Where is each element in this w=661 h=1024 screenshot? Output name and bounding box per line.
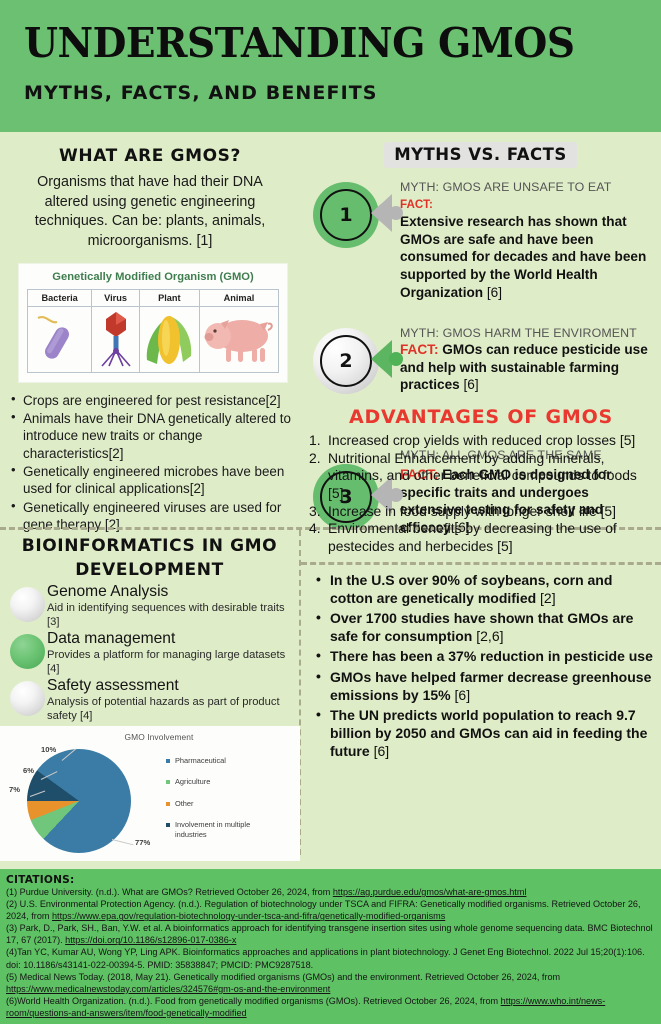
myth-number-badge-2: 2 <box>313 326 391 400</box>
list-item: Crops are engineered for pest resistance… <box>10 392 300 409</box>
section-heading-advantages: ADVANTAGES OF GMOS <box>301 406 661 428</box>
myth-statement-2: MYTH: GMOS HARM THE ENVIROMENT <box>400 326 651 340</box>
left-column: WHAT ARE GMOS? Organisms that have had t… <box>0 132 300 534</box>
bacteriophage-icon <box>94 308 138 370</box>
pointer-dot-icon <box>389 206 403 220</box>
cell-virus <box>92 306 139 372</box>
list-item: In the U.S over 90% of soybeans, corn an… <box>315 571 661 607</box>
list-item: There has been a 37% reduction in pestic… <box>315 647 661 665</box>
bioinformatics-heading-line1: BIOINFORMATICS IN GMO <box>0 536 299 556</box>
gmo-figure-card: Genetically Modified Organism (GMO) Bact… <box>18 263 288 383</box>
pie-chart <box>27 749 131 853</box>
pig-icon <box>202 310 276 368</box>
list-item: Increase in food supply with longer shel… <box>309 503 661 521</box>
pointer-dot-icon <box>389 352 403 366</box>
bio-item-description: Aid in identifying sequences with desira… <box>47 601 299 629</box>
citation-entry-4: (4)Tan YC, Kumar AU, Wong YP, Ling APK. … <box>6 946 655 970</box>
list-item: Over 1700 studies have shown that GMOs a… <box>315 609 661 645</box>
advantages-section: ADVANTAGES OF GMOS Increased crop yields… <box>301 400 661 762</box>
chart-legend: Pharmaceutical Agriculture Other Involve… <box>166 756 257 851</box>
myth-statement-1: MYTH: GMOS ARE UNSAFE TO EAT <box>400 180 651 194</box>
fact-ref: [6] <box>455 687 471 703</box>
citation-text: (6)World Health Organization. (n.d.). Fo… <box>6 996 605 1018</box>
fact-ref-1: [6] <box>487 285 502 300</box>
gmo-definition-text: Organisms that have had their DNA altere… <box>0 173 300 252</box>
bio-item-title: Safety assessment <box>47 678 299 695</box>
pie-value-label-agriculture: 7% <box>9 785 20 794</box>
fact-ref: [2,6] <box>476 628 503 644</box>
myth-content-2: MYTH: GMOS HARM THE ENVIROMENT FACT: GMO… <box>400 326 661 394</box>
page-title: UNDERSTANDING GMOS <box>24 22 629 65</box>
fact-body-1: Extensive research has shown that GMOs a… <box>400 214 646 300</box>
poster-header: UNDERSTANDING GMOS MYTHS, FACTS, AND BEN… <box>0 0 661 132</box>
list-item: Animals have their DNA genetically alter… <box>10 410 300 462</box>
bioinformatics-item-genome-analysis: Genome Analysis Aid in identifying seque… <box>0 584 299 629</box>
myth-number-1: 1 <box>320 189 372 241</box>
legend-swatch-icon <box>166 780 170 784</box>
fact-text: GMOs have helped farmer decrease greenho… <box>330 669 651 703</box>
citation-entry-3: (3) Park, D., Park, SH., Ban, Y.W. et al… <box>6 922 655 946</box>
list-item: Enviromental benefits by decreasing the … <box>309 520 661 555</box>
myth-number-badge-1: 1 <box>313 180 391 254</box>
legend-label: Agriculture <box>175 777 210 786</box>
citation-entry-2: (2) U.S. Environmental Protection Agency… <box>6 898 655 922</box>
legend-label: Pharmaceutical <box>175 756 226 765</box>
horizontal-divider-advantages <box>301 562 661 565</box>
bio-item-title: Data management <box>47 631 299 648</box>
fact-statement-2: FACT: GMOs can reduce pesticide use and … <box>400 341 651 394</box>
advantages-numbered-list: Increased crop yields with reduced crop … <box>309 432 661 556</box>
column-header-plant: Plant <box>139 289 199 306</box>
citation-entry-1: (1) Purdue University. (n.d.). What are … <box>6 886 655 898</box>
legend-item-agriculture: Agriculture <box>166 777 257 786</box>
advantages-fact-list: In the U.S over 90% of soybeans, corn an… <box>315 571 661 761</box>
legend-swatch-icon <box>166 759 170 763</box>
bio-item-description: Analysis of potential hazards as part of… <box>47 695 299 723</box>
legend-label: Involvement in multiple industries <box>175 820 257 839</box>
pie-value-label-other: 6% <box>23 766 34 775</box>
section-heading-myths-vs-facts: MYTHS VS. FACTS <box>384 142 577 168</box>
citation-entry-5: (5) Medical News Today. (2018, May 21). … <box>6 971 655 995</box>
pie-value-label-multiple: 10% <box>41 745 56 754</box>
bio-item-description: Provides a platform for managing large d… <box>47 648 299 676</box>
list-item: GMOs have helped farmer decrease greenho… <box>315 668 661 704</box>
list-item: The UN predicts world population to reac… <box>315 706 661 761</box>
bullet-circle-icon <box>10 634 45 669</box>
citation-text: (4)Tan YC, Kumar AU, Wong YP, Ling APK. … <box>6 947 645 969</box>
citation-entry-6: (6)World Health Organization. (n.d.). Fo… <box>6 995 655 1019</box>
bullet-circle-icon <box>10 587 45 622</box>
citations-heading: CITATIONS: <box>6 874 655 886</box>
gmo-bullet-list: Crops are engineered for pest resistance… <box>10 392 300 533</box>
legend-swatch-icon <box>166 802 170 806</box>
leader-line <box>112 839 134 845</box>
myth-number-2: 2 <box>320 335 372 387</box>
gmo-involvement-chart: GMO Involvement 10% 6% 7% 77% Pharmaceut… <box>0 726 300 861</box>
list-item: Increased crop yields with reduced crop … <box>309 432 661 450</box>
gmo-organism-table: Bacteria Virus Plant Animal <box>27 289 279 373</box>
bio-item-title: Genome Analysis <box>47 584 299 601</box>
bioinformatics-section: BIOINFORMATICS IN GMO DEVELOPMENT Genome… <box>0 532 299 723</box>
list-item: Nutritional Enhancement by adding minera… <box>309 450 661 503</box>
cell-bacteria <box>28 306 92 372</box>
cell-plant <box>139 306 199 372</box>
table-row <box>28 306 279 372</box>
column-header-animal: Animal <box>199 289 278 306</box>
section-heading-what-are-gmos: WHAT ARE GMOS? <box>0 146 300 166</box>
fact-keyword-1: FACT: <box>400 198 433 211</box>
legend-item-other: Other <box>166 799 257 808</box>
column-header-virus: Virus <box>92 289 139 306</box>
fact-ref-2: [6] <box>463 377 478 392</box>
legend-label: Other <box>175 799 193 808</box>
column-header-bacteria: Bacteria <box>28 289 92 306</box>
chart-title: GMO Involvement <box>18 726 300 742</box>
citations-section: CITATIONS: (1) Purdue University. (n.d.)… <box>0 869 661 1024</box>
fact-text: In the U.S over 90% of soybeans, corn an… <box>330 572 612 606</box>
citation-text: (1) Purdue University. (n.d.). What are … <box>6 887 526 897</box>
fact-text: There has been a 37% reduction in pestic… <box>330 648 653 664</box>
myth-content-1: MYTH: GMOS ARE UNSAFE TO EAT FACT: Exten… <box>400 180 661 302</box>
citation-text: (3) Park, D., Park, SH., Ban, Y.W. et al… <box>6 923 653 945</box>
myth-fact-item-1: 1 MYTH: GMOS ARE UNSAFE TO EAT FACT: Ext… <box>300 180 661 302</box>
bioinformatics-item-data-management: Data management Provides a platform for … <box>0 631 299 676</box>
page-subtitle: MYTHS, FACTS, AND BENEFITS <box>24 82 661 104</box>
fact-keyword-2: FACT: <box>400 342 439 357</box>
citation-text: (2) U.S. Environmental Protection Agency… <box>6 899 641 921</box>
bullet-circle-icon <box>10 681 45 716</box>
legend-swatch-icon <box>166 823 170 827</box>
legend-item-multiple-industries: Involvement in multiple industries <box>166 820 257 839</box>
corn-icon <box>141 308 197 370</box>
gmo-figure-title: Genetically Modified Organism (GMO) <box>27 271 279 283</box>
fact-ref: [6] <box>374 743 390 759</box>
pie-value-label-pharmaceutical: 77% <box>135 838 150 847</box>
bioinformatics-heading-line2: DEVELOPMENT <box>0 560 299 580</box>
fact-statement-1: FACT: Extensive research has shown that … <box>400 195 651 302</box>
bioinformatics-item-safety-assessment: Safety assessment Analysis of potential … <box>0 678 299 723</box>
legend-item-pharmaceutical: Pharmaceutical <box>166 756 257 765</box>
citation-text: (5) Medical News Today. (2018, May 21). … <box>6 972 560 994</box>
table-header-row: Bacteria Virus Plant Animal <box>28 289 279 306</box>
cell-animal <box>199 306 278 372</box>
list-item: Genetically engineered microbes have bee… <box>10 463 300 498</box>
bacterium-icon <box>30 308 90 370</box>
fact-ref: [2] <box>540 590 556 606</box>
